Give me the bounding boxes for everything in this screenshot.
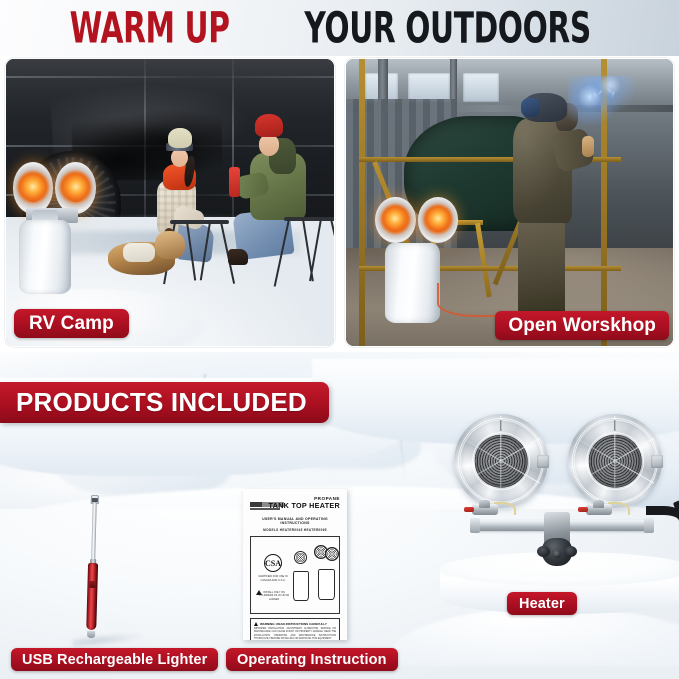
heater-reflector-right xyxy=(418,197,459,243)
woman-beanie xyxy=(168,128,192,148)
manual-heater-drawing-2 xyxy=(313,545,341,603)
dog-harness xyxy=(123,243,154,263)
man-face xyxy=(259,135,279,156)
welding-sparks xyxy=(568,76,640,128)
burner-glow-left xyxy=(22,174,44,202)
manual-cert-caption: CERTIFIED FOR USE IN CANADA AND U.S.A. xyxy=(257,575,289,582)
manual-warning-heading-row: WARNING: READ INSTRUCTIONS CAREFULLY xyxy=(254,622,336,626)
lighter-metal-neck xyxy=(91,503,97,562)
panel-open-workshop[interactable]: Open Worskhop xyxy=(345,58,675,347)
igniter-button-left[interactable] xyxy=(464,507,474,512)
reflector-top-pin-left xyxy=(500,420,501,431)
reflector-top-pin-right xyxy=(614,420,615,431)
burner-valve-right[interactable] xyxy=(578,500,624,522)
man-boot xyxy=(228,249,248,265)
manual-title-large: TANK TOP HEATER xyxy=(269,502,340,510)
ceramic-burner-right xyxy=(589,435,642,488)
propane-cylinder xyxy=(385,243,441,323)
valve-knob-right[interactable] xyxy=(593,500,604,508)
ceramic-burner-left xyxy=(475,435,528,488)
igniter-bracket-right xyxy=(651,455,663,468)
manual-models: MODELS HEATER0045 HEATER0065 xyxy=(250,528,340,532)
lifestyle-panels: RV Camp xyxy=(5,58,674,347)
camping-chair-right xyxy=(284,217,334,286)
panel-rv-camp[interactable]: RV Camp xyxy=(5,58,335,347)
pipe-end-cap-left xyxy=(470,518,480,533)
product-label-heater: Heater xyxy=(507,592,577,615)
igniter-button-right[interactable] xyxy=(578,507,588,512)
dog-head xyxy=(155,231,185,259)
red-thermos xyxy=(229,167,240,197)
operating-instruction-manual[interactable]: PROPANE TANK TOP HEATER USER'S MANUAL AN… xyxy=(243,489,347,640)
product-label-usb-lighter: USB Rechargeable Lighter xyxy=(11,648,218,671)
helmet-cap xyxy=(521,98,540,117)
heater-head-left xyxy=(454,414,548,508)
burner-glow-right xyxy=(427,207,449,232)
dual-tank-top-heater-product[interactable] xyxy=(438,414,679,564)
panel-label-rv-camp: RV Camp xyxy=(14,309,129,338)
vehicle-seam xyxy=(6,76,334,78)
dog xyxy=(108,231,187,280)
products-included-label: PRODUCTS INCLUDED xyxy=(16,387,307,418)
coupling-wing-left xyxy=(537,546,550,557)
manual-warning-p1: IMPROPER INSTALLATION, ADJUSTMENT, ALTER… xyxy=(254,628,336,640)
heater-reflector-left xyxy=(13,162,54,214)
manual-figure-caption: INSTALL ONLY ON CYLINDERS OF 20 LB OR LA… xyxy=(257,591,291,601)
valve-knob-left[interactable] xyxy=(479,500,490,508)
igniter-bracket-left xyxy=(537,455,549,468)
manual-figure-box: CSA CERTIFIED FOR USE IN CANADA AND U.S.… xyxy=(250,536,340,614)
page-title: WARM UP YOUR OUTDOORS xyxy=(0,4,679,52)
gas-supply-hose xyxy=(646,506,679,532)
heater-reflector-left xyxy=(375,197,416,243)
manual-warning-heading: WARNING: READ INSTRUCTIONS CAREFULLY xyxy=(260,622,327,626)
csa-certification-icon: CSA xyxy=(264,554,282,572)
headline-red-text: WARM UP xyxy=(70,7,230,50)
headline-dark-text: YOUR OUTDOORS xyxy=(305,7,591,50)
workshop-window xyxy=(408,73,451,102)
manual-titles: PROPANE TANK TOP HEATER xyxy=(269,497,340,509)
manual-header: PROPANE TANK TOP HEATER xyxy=(250,497,340,514)
lighter-arc-gap xyxy=(92,498,98,502)
burner-glow-right xyxy=(65,174,87,202)
manual-warning-box: WARNING: READ INSTRUCTIONS CAREFULLY IMP… xyxy=(250,618,340,640)
heater-reflector-right xyxy=(55,162,96,214)
workshop-window xyxy=(463,73,499,102)
product-label-operating-instruction: Operating Instruction xyxy=(226,648,398,671)
warning-triangle-icon xyxy=(254,622,258,626)
tank-top-heater-glowing xyxy=(13,162,98,214)
products-included-banner: PRODUCTS INCLUDED xyxy=(0,382,329,423)
burner-glow-left xyxy=(384,207,406,232)
lighter-red-body xyxy=(86,563,99,630)
coupling-center xyxy=(553,550,561,558)
manual-warning-body: IMPROPER INSTALLATION, ADJUSTMENT, ALTER… xyxy=(254,628,336,640)
tank-top-heater-glowing xyxy=(375,197,460,243)
welder-glove xyxy=(582,136,594,157)
propane-cylinder xyxy=(19,220,71,295)
lighter-power-button[interactable] xyxy=(90,581,96,588)
coupling-wing-right xyxy=(564,546,577,557)
manual-heater-drawing-1 xyxy=(291,551,313,603)
manual-subtitle: USER'S MANUAL AND OPERATING INSTRUCTIONS xyxy=(250,517,340,525)
heater-head-right xyxy=(568,414,662,508)
product-marketing-image: WARM UP YOUR OUTDOORS xyxy=(0,0,679,679)
panel-label-open-workshop: Open Worskhop xyxy=(495,311,669,340)
man-red-beanie xyxy=(255,114,283,137)
lighter-base-cap xyxy=(87,631,95,638)
